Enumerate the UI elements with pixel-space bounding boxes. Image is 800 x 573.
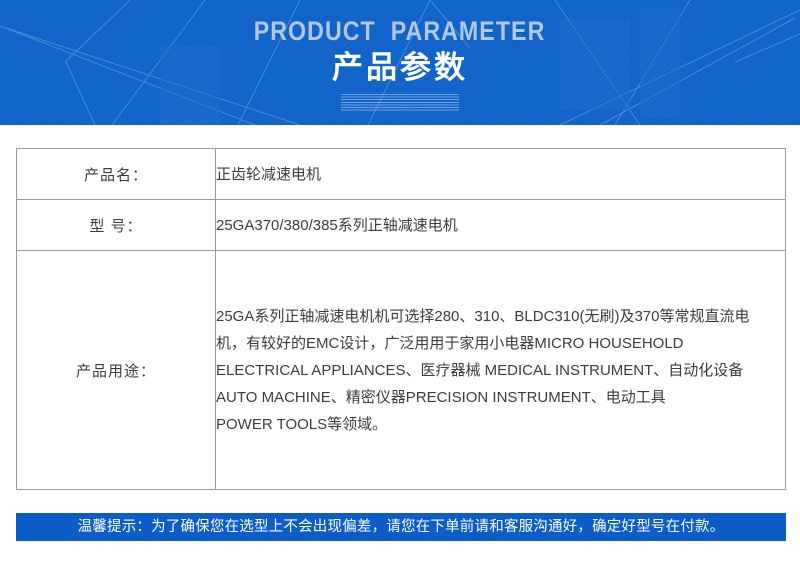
- banner-title-en: PRODUCT PARAMETER: [254, 16, 546, 46]
- banner-stripe-decoration: [341, 94, 459, 112]
- table-row: 产品名： 正齿轮减速电机: [17, 149, 786, 200]
- product-parameter-banner: PRODUCT PARAMETER 产品参数: [0, 0, 800, 125]
- usage-description-text: 25GA系列正轴减速电机机可选择280、310、BLDC310(无刷)及370等…: [216, 303, 771, 438]
- row-value-usage: 25GA系列正轴减速电机机可选择280、310、BLDC310(无刷)及370等…: [216, 251, 786, 490]
- row-label-product-name: 产品名：: [17, 149, 216, 200]
- table-row: 产品用途： 25GA系列正轴减速电机机可选择280、310、BLDC310(无刷…: [17, 251, 786, 490]
- row-value-model: 25GA370/380/385系列正轴减速电机: [216, 200, 786, 251]
- row-value-product-name: 正齿轮减速电机: [216, 149, 786, 200]
- row-label-model: 型 号：: [17, 200, 216, 251]
- warm-tip-notice-bar: 温馨提示：为了确保您在选型上不会出现偏差，请您在下单前请和客服沟通好，确定好型号…: [16, 513, 786, 541]
- banner-title-cn: 产品参数: [332, 48, 468, 88]
- table-row: 型 号： 25GA370/380/385系列正轴减速电机: [17, 200, 786, 251]
- product-parameter-table: 产品名： 正齿轮减速电机 型 号： 25GA370/380/385系列正轴减速电…: [16, 148, 786, 490]
- spec-table-container: 产品名： 正齿轮减速电机 型 号： 25GA370/380/385系列正轴减速电…: [16, 148, 786, 490]
- row-label-usage: 产品用途：: [17, 251, 216, 490]
